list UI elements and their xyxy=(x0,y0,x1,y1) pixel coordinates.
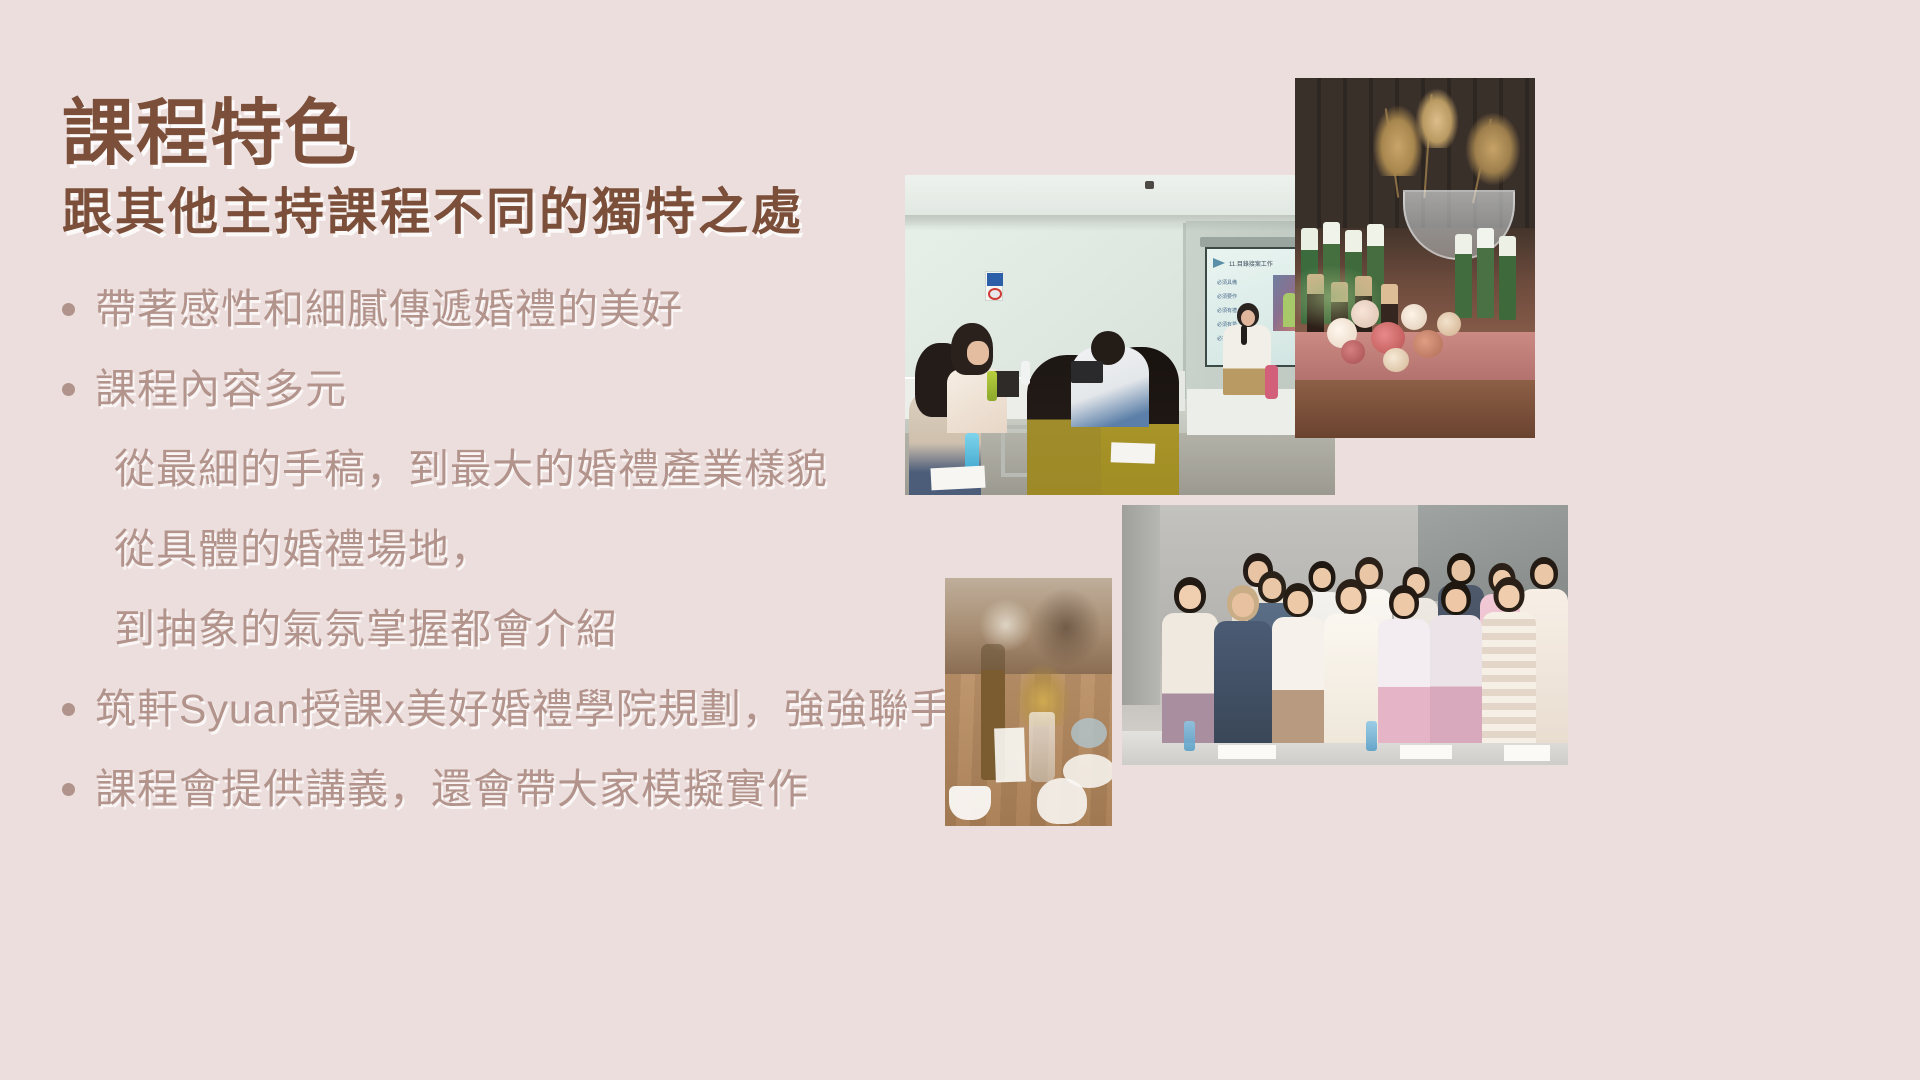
class-group-photo xyxy=(1122,505,1568,765)
bullet-dot-icon xyxy=(62,383,75,396)
group-person xyxy=(1214,585,1272,743)
bullet-sub-line: 從具體的婚禮場地， xyxy=(114,522,1102,576)
handout-paper xyxy=(1400,745,1452,759)
person-body xyxy=(1482,612,1536,743)
water-bottle xyxy=(987,371,997,401)
person-face xyxy=(1341,587,1362,610)
wifi-sign-icon xyxy=(987,273,1003,286)
white-cup xyxy=(949,786,991,820)
person-face xyxy=(1446,589,1467,612)
projected-slide-title: 11.目錄接案工作 xyxy=(1229,259,1273,268)
person-body xyxy=(1430,615,1482,743)
water-bottle xyxy=(1265,365,1278,399)
microphone-icon xyxy=(1241,325,1247,345)
slide-triangle-icon xyxy=(1213,258,1225,268)
student-face xyxy=(967,341,989,365)
white-flower xyxy=(1401,304,1427,330)
champagne-bottle xyxy=(1477,228,1494,318)
person-face xyxy=(1232,593,1254,617)
background-bokeh xyxy=(1031,588,1101,666)
classroom-lecture-photo: 11.目錄接案工作 必須具備 必須要作 必須有禮 必須有愛 必須有為 xyxy=(905,175,1335,495)
bullet-dot-icon xyxy=(62,303,75,316)
group-person xyxy=(1162,577,1218,743)
group-person xyxy=(1378,585,1430,743)
group-person xyxy=(1430,581,1482,743)
place-card xyxy=(994,727,1026,782)
cream-flower xyxy=(1383,348,1409,372)
water-bottle xyxy=(1184,721,1195,751)
student-head xyxy=(1091,331,1125,365)
speaker-body xyxy=(1223,325,1271,395)
table-setting-vase-photo xyxy=(945,578,1112,826)
bullet-dot-icon xyxy=(62,703,75,716)
laptop-icon xyxy=(1071,361,1103,383)
person-face xyxy=(1499,585,1520,608)
person-face xyxy=(1535,564,1554,585)
speaker-face xyxy=(1241,310,1255,326)
projected-slide-line: 必須要作 xyxy=(1217,293,1237,300)
person-body xyxy=(1378,619,1430,743)
white-flower xyxy=(1351,300,1379,328)
bullet-text: 筑軒Syuan授課x美好婚禮學院規劃，強強聯手 xyxy=(95,682,952,736)
slide-canvas: 課程特色 跟其他主持課程不同的獨特之處 帶著感性和細膩傳遞婚禮的美好 課程內容多… xyxy=(0,0,1920,1080)
projected-slide-line: 必須具備 xyxy=(1217,279,1237,286)
cream-flower xyxy=(1437,312,1461,336)
group-person xyxy=(1272,583,1324,743)
person-body xyxy=(1214,621,1272,743)
pink-rose xyxy=(1341,340,1365,364)
dried-flowers-bottles-photo xyxy=(1295,78,1535,438)
person-body xyxy=(1272,617,1324,743)
person-face xyxy=(1452,560,1471,581)
champagne-bottle xyxy=(1499,236,1516,320)
no-smoking-icon xyxy=(988,288,1002,300)
group-person xyxy=(1482,577,1536,743)
bullet-text: 課程會提供講義，還會帶大家模擬實作 xyxy=(95,762,809,816)
bullet-text: 課程內容多元 xyxy=(95,362,347,416)
dried-flower-cluster xyxy=(1415,88,1459,148)
white-tableware xyxy=(1037,778,1087,824)
flower-bouquet xyxy=(1317,278,1477,390)
ceiling-shadow xyxy=(905,215,1335,231)
blue-plate xyxy=(1071,718,1107,748)
dried-flower-cluster xyxy=(1465,112,1521,186)
handout-paper xyxy=(1504,745,1550,761)
person-face xyxy=(1179,585,1201,609)
door-frame xyxy=(1122,505,1160,705)
person-face xyxy=(1288,591,1309,614)
projected-slide-line: 必須有禮 xyxy=(1217,307,1237,314)
handout-paper xyxy=(1218,745,1276,759)
group-person xyxy=(1324,579,1378,743)
water-bottle xyxy=(1021,361,1030,385)
ceiling-sensor-icon xyxy=(1145,181,1154,189)
peach-flower xyxy=(1413,330,1443,358)
person-face xyxy=(1394,593,1415,616)
bullet-dot-icon xyxy=(62,783,75,796)
bullet-text: 帶著感性和細膩傳遞婚禮的美好 xyxy=(95,282,683,336)
wall-notice-poster xyxy=(985,271,1003,301)
water-bottle xyxy=(1366,721,1377,751)
page-title: 課程特色 xyxy=(62,96,1102,172)
small-vase xyxy=(1029,712,1055,782)
handout-paper xyxy=(930,466,985,491)
handout-paper xyxy=(1111,442,1156,464)
